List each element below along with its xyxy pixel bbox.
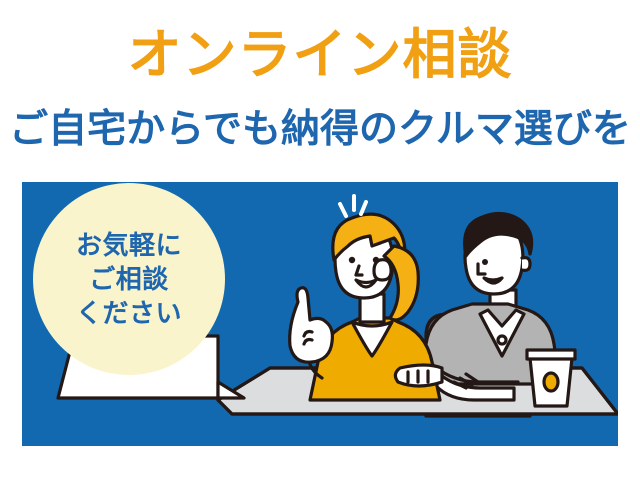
online-consultation-banner: オンライン相談 ご自宅からでも納得のクルマ選びを	[0, 0, 640, 480]
woman-eye-right	[373, 257, 379, 263]
coffee-cup-logo	[544, 373, 558, 391]
man-shirt-button	[498, 336, 506, 344]
illustration-panel: お気軽に ご相談 ください	[22, 182, 618, 446]
man-ear	[522, 258, 530, 271]
badge-line-3: ください	[76, 296, 182, 330]
speech-badge-text: お気軽に ご相談 ください	[33, 183, 225, 375]
page-subtitle: ご自宅からでも納得のクルマ選びを	[0, 106, 640, 154]
sparkle-marks	[340, 196, 366, 216]
woman-pointing-hand	[290, 288, 333, 362]
coffee-cup-lid	[527, 350, 575, 359]
man-eye	[482, 259, 488, 265]
page-title: オンライン相談	[0, 24, 640, 86]
woman-eye-left	[349, 257, 355, 263]
man-mouth	[484, 278, 502, 283]
badge-line-2: ご相談	[89, 262, 169, 296]
badge-line-1: お気軽に	[76, 228, 182, 262]
